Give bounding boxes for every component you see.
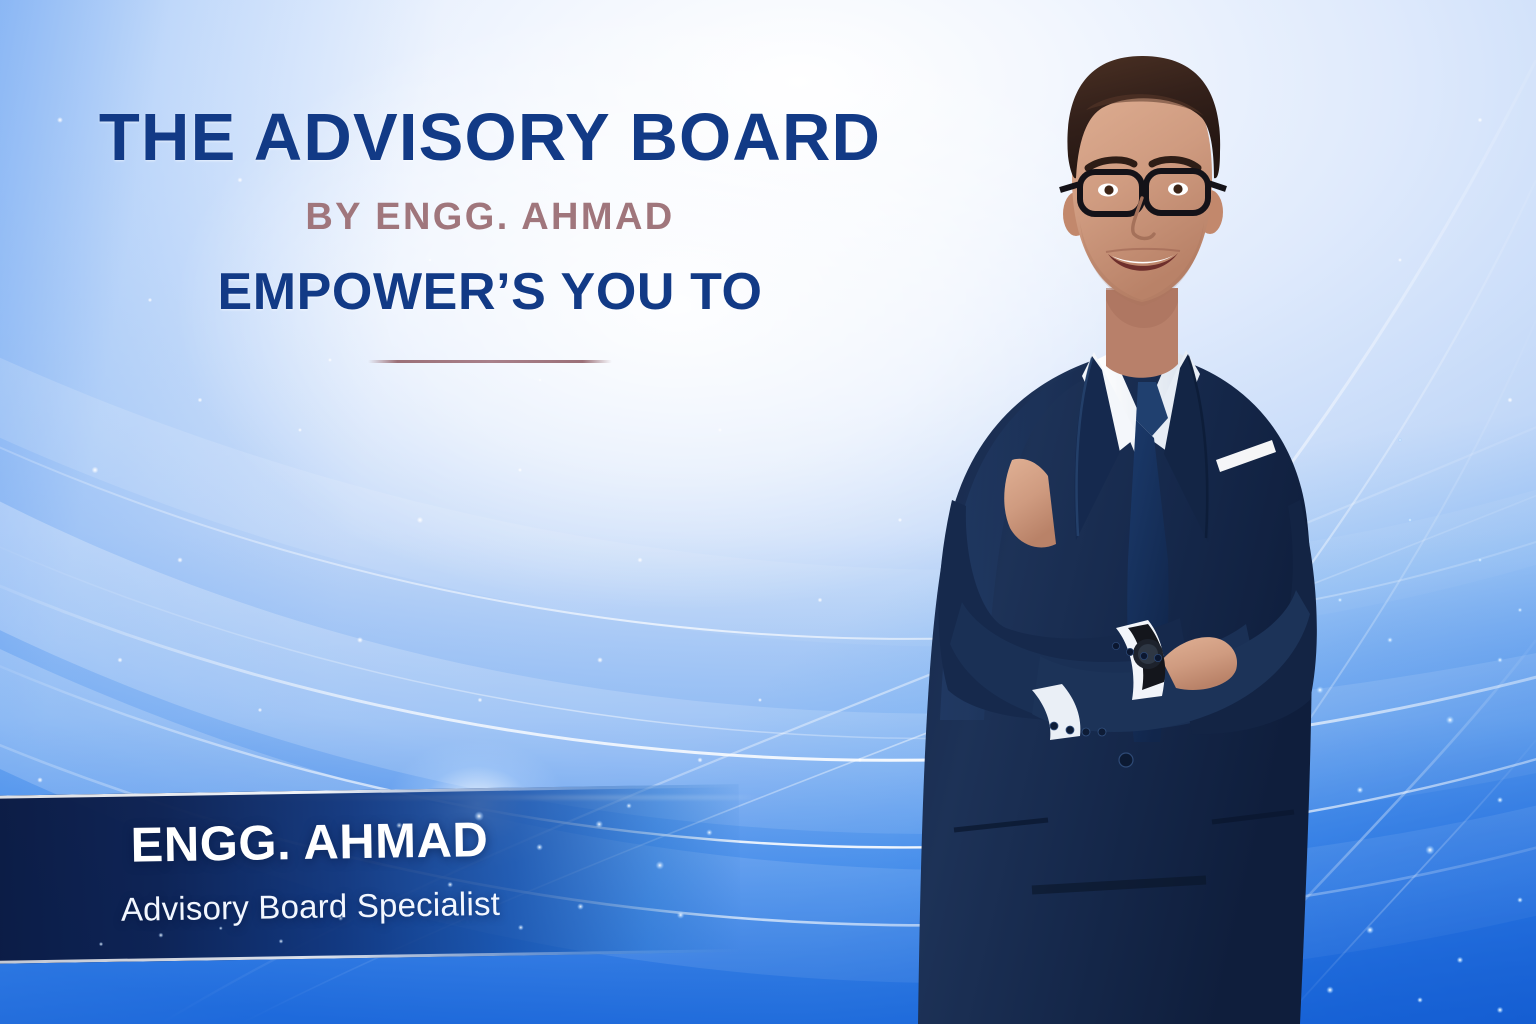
headline-divider (368, 360, 612, 363)
name-plate-text: ENGG. AHMAD Advisory Board Specialist (0, 786, 641, 928)
headline-block: THE ADVISORY BOARD BY ENGG. AHMAD EMPOWE… (0, 104, 980, 363)
name-plate-banner: ENGG. AHMAD Advisory Board Specialist (0, 784, 741, 964)
headline-line-3: EMPOWER’S YOU TO (0, 266, 980, 318)
headline-line-1: THE ADVISORY BOARD (0, 104, 980, 171)
headline-line-2: BY ENGG. AHMAD (0, 198, 980, 236)
banner-canvas: THE ADVISORY BOARD BY ENGG. AHMAD EMPOWE… (0, 0, 1536, 1024)
speaker-name: ENGG. AHMAD (0, 814, 640, 873)
